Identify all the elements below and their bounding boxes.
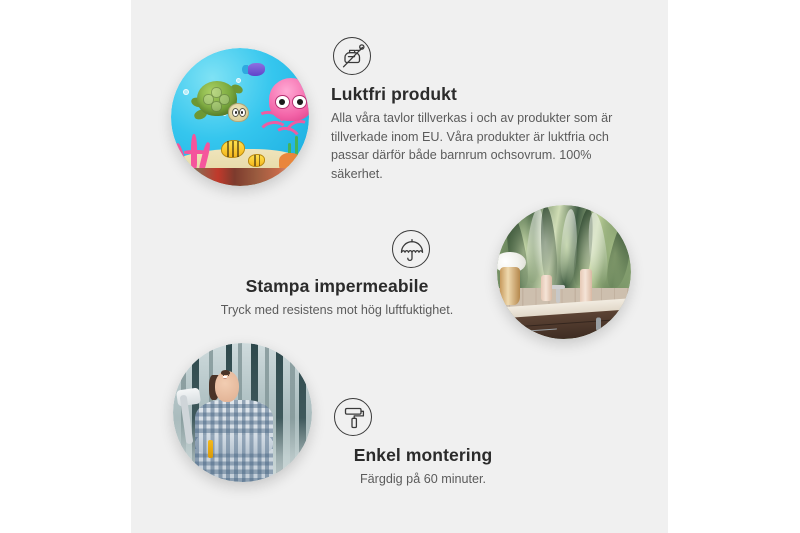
cabinet-handle <box>595 316 600 330</box>
hand-tool <box>208 440 213 458</box>
bathroom-photo <box>497 205 631 339</box>
product-image-forest-installer <box>173 343 312 482</box>
turtle-scute <box>211 101 222 112</box>
soap-bottle <box>580 269 592 304</box>
smile <box>223 376 227 379</box>
product-image-underwater <box>171 48 309 186</box>
eye <box>228 375 229 376</box>
decorative-vase <box>500 267 520 306</box>
feature-description: Tryck med resistens mot hög luftfuktighe… <box>198 301 476 320</box>
octopus-icon <box>252 78 309 147</box>
feature-block-moisture-resistant: Stampa impermeabile Tryck med resistens … <box>198 230 476 320</box>
fish-stripe <box>227 141 229 158</box>
drawer-divider <box>497 317 631 328</box>
soap-bottle <box>541 275 552 302</box>
coral-branch <box>199 141 211 170</box>
octopus-eye <box>292 95 307 110</box>
coral-icon <box>175 134 216 171</box>
fish-stripe <box>254 155 256 166</box>
drawer-handle <box>529 328 557 331</box>
product-image-bathroom <box>497 205 631 339</box>
octopus-head <box>269 78 309 121</box>
umbrella-icon <box>392 230 430 268</box>
promo-banner: Luktfri produkt Alla våra tavlor tillver… <box>0 0 800 533</box>
yellow-fish-icon <box>248 154 265 167</box>
fish-stripe <box>237 141 239 158</box>
octopus-eye <box>275 95 290 110</box>
coral-branch <box>184 150 207 154</box>
coral-branch <box>175 143 188 170</box>
feature-description: Alla våra tavlor tillverkas i och av pro… <box>331 109 631 183</box>
fish-stripe <box>259 155 261 166</box>
sea-turtle-icon <box>190 81 245 124</box>
paint-roller-icon <box>334 398 372 436</box>
faucet-icon <box>556 285 560 302</box>
mural-bottom-strip <box>171 168 309 186</box>
face <box>215 371 238 402</box>
feature-description: Färgdig på 60 minuter. <box>304 470 542 489</box>
fish-stripe <box>232 141 234 158</box>
turtle-eye <box>239 108 246 117</box>
feature-title: Luktfri produkt <box>331 84 631 105</box>
purple-fish-icon <box>247 63 265 75</box>
promo-canvas: Luktfri produkt Alla våra tavlor tillver… <box>131 0 668 533</box>
underwater-illustration <box>171 48 309 186</box>
installer-person <box>195 371 273 482</box>
feature-title: Stampa impermeabile <box>198 276 476 297</box>
crossed-arms <box>195 435 273 453</box>
feature-title: Enkel montering <box>304 445 542 466</box>
forest-installer-photo <box>173 343 312 482</box>
feature-block-easy-mounting: Enkel montering Färgdig på 60 minuter. <box>304 398 542 489</box>
no-odour-spray-bottle-icon <box>333 37 371 75</box>
turtle-head <box>228 103 249 122</box>
feature-block-odour-free: Luktfri produkt Alla våra tavlor tillver… <box>331 37 631 183</box>
